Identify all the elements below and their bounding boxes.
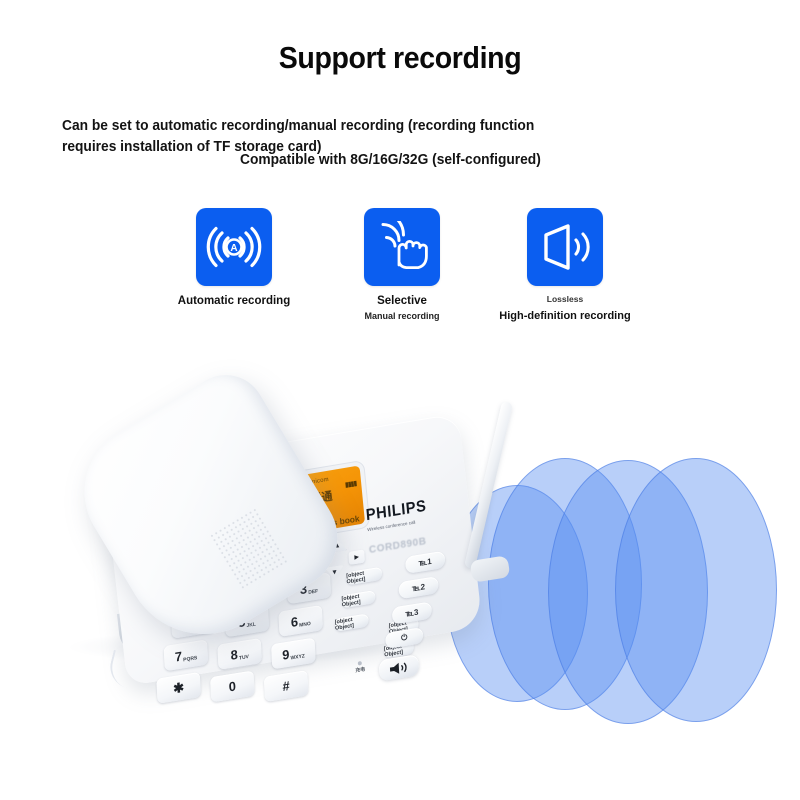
feature-label-0: Automatic recording [159, 295, 309, 309]
hand-tap-waves-icon [364, 208, 440, 286]
key-letters: WXYZ [290, 653, 305, 661]
charge-led-dot [358, 661, 362, 666]
feature-automatic-recording: A Automatic recording [159, 208, 309, 309]
key-digit: 8 [230, 647, 238, 663]
svg-text:A: A [230, 243, 237, 254]
feature-hd-lossless-recording: Lossless High-definition recording [490, 208, 640, 323]
feature-prelabel-2: Lossless [490, 294, 640, 304]
page-title: Support recording [32, 40, 768, 76]
key-letters: PQRS [183, 655, 197, 663]
feature-label-2: High-definition recording [490, 310, 640, 323]
handset-body[interactable] [59, 360, 356, 664]
telephone-handset[interactable] [103, 398, 321, 648]
signal-wave-ellipse [615, 458, 777, 722]
function-key-column[interactable]: [object Object] [object Object] [object … [354, 558, 479, 707]
key-0[interactable]: 0 [210, 670, 255, 702]
auto-record-waves-icon: A [196, 208, 272, 286]
feature-sublabel-1: Manual recording [327, 311, 477, 322]
product-photo: China Unicom ▮▮▮▮ 中国联通 2032-09-06 Addres… [0, 330, 800, 800]
external-antenna [477, 400, 499, 585]
feature-selective-manual-recording: Selective Manual recording [327, 208, 477, 322]
key-hash[interactable]: # [264, 670, 309, 702]
key-digit: ✱ [173, 679, 185, 697]
key-digit: 0 [228, 678, 236, 694]
charge-indicator: 充电 [355, 661, 366, 675]
subtitle-secondary: Compatible with 8G/16G/32G (self-configu… [240, 152, 639, 168]
charge-label: 充电 [355, 667, 365, 675]
feature-label-1: Selective [327, 295, 477, 309]
speakerphone-icon [388, 659, 410, 676]
key-letters: TUV [239, 654, 249, 662]
key-digit: 7 [174, 648, 182, 664]
feature-icon-row: A Automatic recording Selective Manual r… [0, 208, 800, 348]
key-digit: # [282, 678, 290, 694]
memory-key-2[interactable]: ℡2 [398, 576, 438, 599]
key-digit: 9 [282, 647, 290, 663]
memory-key-3[interactable]: ℡3 [392, 601, 432, 624]
speaker-waves-icon [527, 208, 603, 286]
brand-block: PHILIPS Wireless conference call CORD890… [365, 497, 435, 556]
speakerphone-button[interactable] [379, 654, 420, 681]
desk-phone-base: China Unicom ▮▮▮▮ 中国联通 2032-09-06 Addres… [95, 390, 490, 720]
